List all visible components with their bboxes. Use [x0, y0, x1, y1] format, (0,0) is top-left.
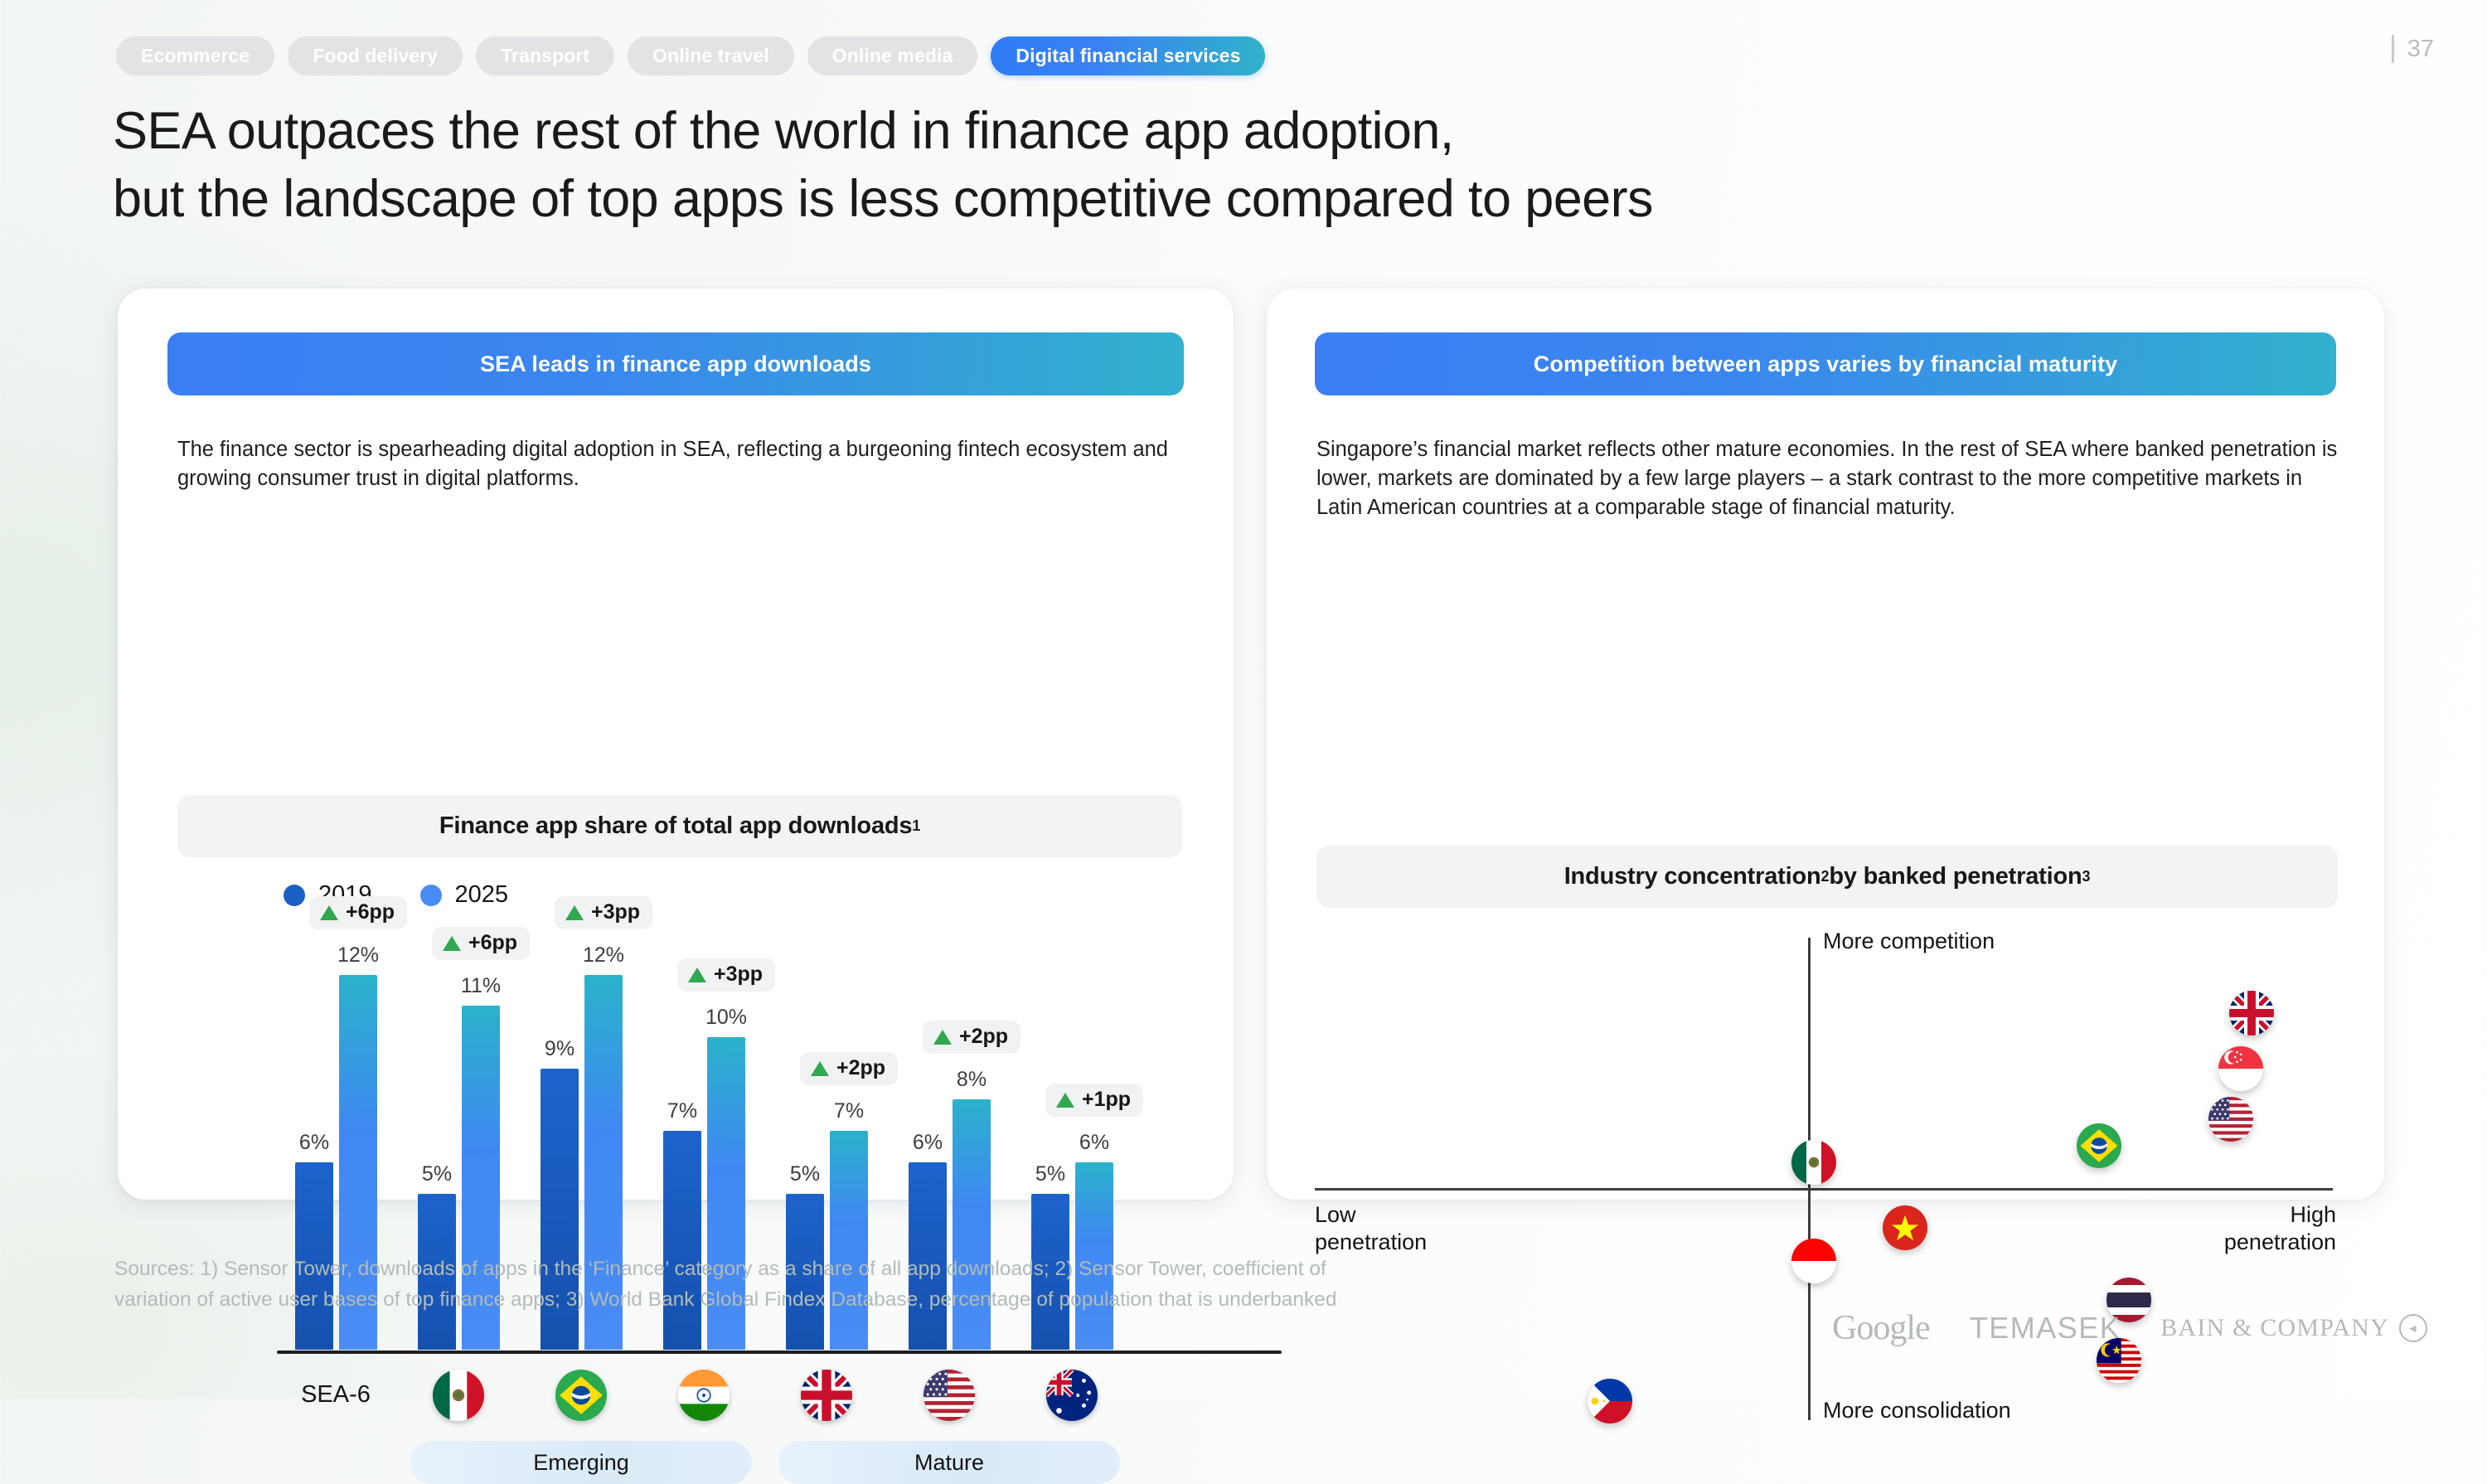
- scatter-point-flag-brazil: [2077, 1123, 2121, 1168]
- scatter-label-low-penetration-line1: Low: [1315, 1201, 1427, 1229]
- left-chart-title-text: Finance app share of total app downloads: [439, 812, 912, 840]
- scatter-label-high-penetration: High penetration: [2224, 1201, 2336, 1256]
- bain-mark-icon: ◂: [2399, 1314, 2427, 1342]
- x-axis-flag-australia: [1046, 1370, 1098, 1421]
- x-axis-label-sea-6: SEA-6: [301, 1381, 371, 1409]
- scatter-label-more-consolidation: More consolidation: [1823, 1397, 2011, 1424]
- right-card-banner: Competition between apps varies by finan…: [1315, 332, 2336, 395]
- tab-ecommerce[interactable]: Ecommerce: [116, 36, 274, 75]
- bar-value-label-2025: 10%: [705, 1006, 747, 1030]
- delta-badge-label: +6pp: [346, 900, 395, 924]
- left-chart-title-footnote: 1: [912, 817, 920, 835]
- page-title-line-2: but the landscape of top apps is less co…: [113, 166, 2368, 234]
- bar-value-label-2025: 12%: [337, 943, 379, 968]
- bar-value-label-2019: 6%: [913, 1131, 943, 1155]
- delta-badge: +2pp: [800, 1052, 898, 1085]
- scatter-point-flag-mexico: [1791, 1140, 1836, 1185]
- right-card: Competition between apps varies by finan…: [1267, 289, 2384, 1200]
- bar-value-label-2019: 5%: [1035, 1162, 1065, 1186]
- legend-swatch-2025: [420, 885, 442, 906]
- bar-value-label-2019: 5%: [790, 1162, 820, 1186]
- scatter-label-low-penetration: Low penetration: [1315, 1201, 1427, 1256]
- right-card-body-text: Singapore’s financial market reflects ot…: [1316, 435, 2338, 522]
- left-card-banner: SEA leads in finance app downloads: [167, 332, 1184, 395]
- triangle-up-icon: [811, 1061, 829, 1076]
- scatter-point-flag-singapore: [2218, 1046, 2263, 1091]
- footer-logos: Google TEMASEK BAIN & COMPANY ◂: [1832, 1308, 2427, 1348]
- sources-note: Sources: 1) Sensor Tower, downloads of a…: [114, 1254, 1341, 1315]
- scatter-point-flag-indonesia: [1791, 1239, 1836, 1283]
- x-axis-flag-usa: [924, 1370, 975, 1421]
- legend-swatch-2019: [284, 885, 305, 906]
- delta-badge-label: +2pp: [836, 1056, 885, 1080]
- page-number: 37: [2392, 35, 2434, 63]
- bar-value-label-2025: 11%: [461, 974, 501, 998]
- left-card: SEA leads in finance app downloads The f…: [118, 289, 1234, 1200]
- delta-badge-label: +3pp: [591, 900, 640, 924]
- scatter-point-flag-philippines: [1588, 1379, 1632, 1423]
- delta-badge-label: +2pp: [959, 1025, 1008, 1049]
- scatter-point-flag-vietnam: [1883, 1205, 1927, 1250]
- right-chart-title-footnote-a: 2: [1821, 868, 1830, 885]
- bar-value-label-2025: 7%: [834, 1099, 864, 1123]
- scatter-point-flag-usa: [2208, 1097, 2253, 1142]
- scatter-label-high-penetration-line1: High: [2224, 1201, 2336, 1229]
- bar-value-label-2025: 6%: [1079, 1131, 1109, 1155]
- triangle-up-icon: [320, 905, 338, 920]
- triangle-up-icon: [933, 1030, 952, 1045]
- delta-badge-label: +1pp: [1082, 1088, 1131, 1112]
- bar-2025: [830, 1131, 868, 1350]
- delta-badge: +6pp: [309, 896, 407, 929]
- x-axis-flag-india: [678, 1370, 730, 1421]
- right-chart-title-text-b: by banked penetration: [1829, 863, 2082, 890]
- page-number-value: 37: [2407, 36, 2434, 63]
- x-axis-flag-uk: [801, 1370, 852, 1421]
- category-tabs[interactable]: Ecommerce Food delivery Transport Online…: [116, 36, 1265, 75]
- bar-value-label-2025: 8%: [957, 1068, 987, 1092]
- right-chart-title-text-a: Industry concentration: [1564, 863, 1821, 890]
- scatter-label-high-penetration-line2: penetration: [2224, 1229, 2336, 1256]
- delta-badge: +3pp: [555, 896, 652, 929]
- page-title: SEA outpaces the rest of the world in fi…: [113, 98, 2368, 234]
- category-pill-emerging: Emerging: [410, 1441, 752, 1484]
- scatter-label-more-competition: More competition: [1823, 928, 1995, 955]
- page-number-divider: [2392, 35, 2394, 63]
- bar-value-label-2025: 12%: [583, 943, 624, 968]
- tab-transport[interactable]: Transport: [476, 36, 614, 75]
- delta-badge-label: +6pp: [468, 931, 517, 955]
- bar-value-label-2019: 5%: [422, 1162, 452, 1186]
- delta-badge: +3pp: [677, 958, 775, 992]
- triangle-up-icon: [443, 936, 461, 951]
- bar-chart-x-axis: [277, 1351, 1282, 1354]
- triangle-up-icon: [1056, 1093, 1074, 1108]
- scatter-x-axis: [1315, 1188, 2333, 1191]
- triangle-up-icon: [565, 905, 584, 920]
- google-logo: Google: [1832, 1308, 1930, 1348]
- tab-food-delivery[interactable]: Food delivery: [288, 36, 463, 75]
- delta-badge: +1pp: [1045, 1084, 1143, 1117]
- scatter-plot-area: More competition More consolidation Low …: [1315, 931, 2336, 1428]
- bar-value-label-2019: 9%: [545, 1037, 574, 1061]
- tab-online-media[interactable]: Online media: [807, 36, 978, 75]
- right-chart-title-footnote-b: 3: [2082, 868, 2091, 885]
- temasek-logo: TEMASEK: [1970, 1311, 2121, 1346]
- bar-value-label-2019: 7%: [667, 1099, 697, 1123]
- bar-value-label-2019: 6%: [299, 1131, 329, 1155]
- bar-2019: [663, 1131, 701, 1350]
- scatter-label-low-penetration-line2: penetration: [1315, 1229, 1427, 1256]
- page-title-line-1: SEA outpaces the rest of the world in fi…: [113, 98, 2368, 166]
- delta-badge: +6pp: [432, 927, 530, 960]
- right-chart-title: Industry concentration2 by banked penetr…: [1316, 846, 2338, 908]
- left-chart-title: Finance app share of total app downloads…: [177, 795, 1182, 857]
- scatter-point-flag-uk: [2229, 991, 2274, 1035]
- category-pill-mature: Mature: [778, 1441, 1120, 1484]
- delta-badge-label: +3pp: [714, 963, 763, 987]
- tab-digital-financial-services[interactable]: Digital financial services: [991, 36, 1265, 75]
- legend-item-2025: 2025: [420, 881, 509, 909]
- delta-badge: +2pp: [923, 1021, 1020, 1054]
- triangle-up-icon: [688, 968, 706, 982]
- bain-logo-text: BAIN & COMPANY: [2160, 1314, 2389, 1342]
- x-axis-flag-brazil: [555, 1370, 607, 1421]
- left-card-body-text: The finance sector is spearheading digit…: [177, 435, 1182, 493]
- bain-logo: BAIN & COMPANY ◂: [2160, 1314, 2427, 1342]
- legend-label-2025: 2025: [455, 881, 509, 909]
- tab-online-travel[interactable]: Online travel: [628, 36, 794, 75]
- x-axis-flag-mexico: [433, 1370, 484, 1421]
